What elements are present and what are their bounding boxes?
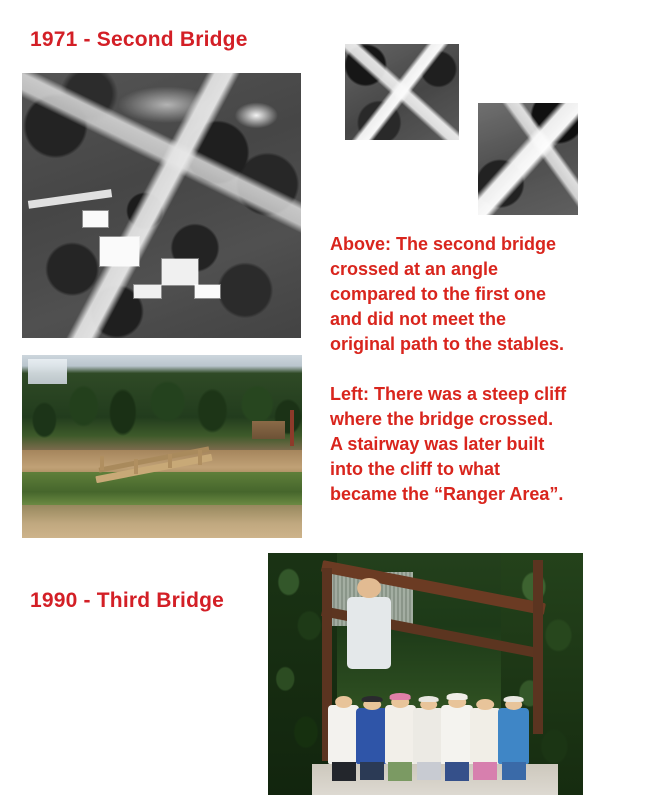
child — [413, 708, 445, 764]
child-legs — [473, 762, 497, 780]
caption-above-line: Above: The second bridge — [330, 232, 630, 257]
heading-1971-second-bridge: 1971 - Second Bridge — [30, 28, 248, 52]
child-legs — [417, 762, 441, 780]
creek — [22, 472, 302, 505]
child-legs — [502, 762, 526, 780]
caption-above-line: original path to the stables. — [330, 332, 630, 357]
pole — [290, 410, 293, 447]
child — [385, 705, 417, 763]
caption-above-line: crossed at an angle — [330, 257, 630, 282]
poster-page: 1971 - Second Bridge Above: The second b… — [0, 0, 648, 810]
child-cap — [447, 693, 468, 700]
caption-left-line: became the “Ranger Area”. — [330, 482, 630, 507]
child-cap — [418, 696, 439, 703]
caption-left-line: into the cliff to what — [330, 457, 630, 482]
shed — [252, 421, 286, 439]
child — [356, 708, 388, 764]
bridge-post — [198, 450, 202, 465]
child-head — [477, 699, 495, 710]
child-cap — [390, 693, 411, 700]
child-legs — [388, 762, 412, 781]
child-legs — [332, 762, 356, 781]
child — [441, 705, 473, 763]
children-on-third-bridge-photo — [268, 553, 583, 795]
bridge-post — [533, 560, 543, 734]
wooden-footbridge-photo — [22, 355, 302, 538]
aerial-building — [195, 285, 220, 298]
aerial-building — [134, 285, 162, 298]
caption-above-line: and did not meet the — [330, 307, 630, 332]
heading-1990-third-bridge: 1990 - Third Bridge — [30, 589, 224, 613]
caption-left: Left: There was a steep cliff where the … — [330, 382, 630, 507]
bridge-post — [168, 454, 172, 469]
adult-leader — [347, 597, 391, 670]
child-head — [335, 696, 353, 708]
caption-above-line: compared to the first one — [330, 282, 630, 307]
child — [470, 708, 502, 764]
aerial-building — [162, 259, 198, 286]
aerial-road — [27, 189, 111, 209]
aerial-blackwhite-photo — [22, 73, 301, 338]
aerial-closeup-inset-2 — [478, 103, 578, 215]
adult-head — [357, 578, 381, 598]
child-legs — [445, 762, 469, 781]
bridge-post — [100, 456, 104, 471]
caption-left-line: where the bridge crossed. — [330, 407, 630, 432]
aerial-closeup-inset-1 — [345, 44, 459, 140]
child — [498, 708, 530, 764]
child — [328, 705, 360, 763]
aerial-building — [83, 211, 108, 227]
bridge-post — [134, 459, 138, 474]
caption-left-line: Left: There was a steep cliff — [330, 382, 630, 407]
child-cap — [362, 696, 383, 703]
child-legs — [360, 762, 384, 780]
caption-left-line: A stairway was later built — [330, 432, 630, 457]
aerial-building — [100, 237, 139, 266]
caption-above: Above: The second bridge crossed at an a… — [330, 232, 630, 357]
child-cap — [503, 696, 524, 703]
